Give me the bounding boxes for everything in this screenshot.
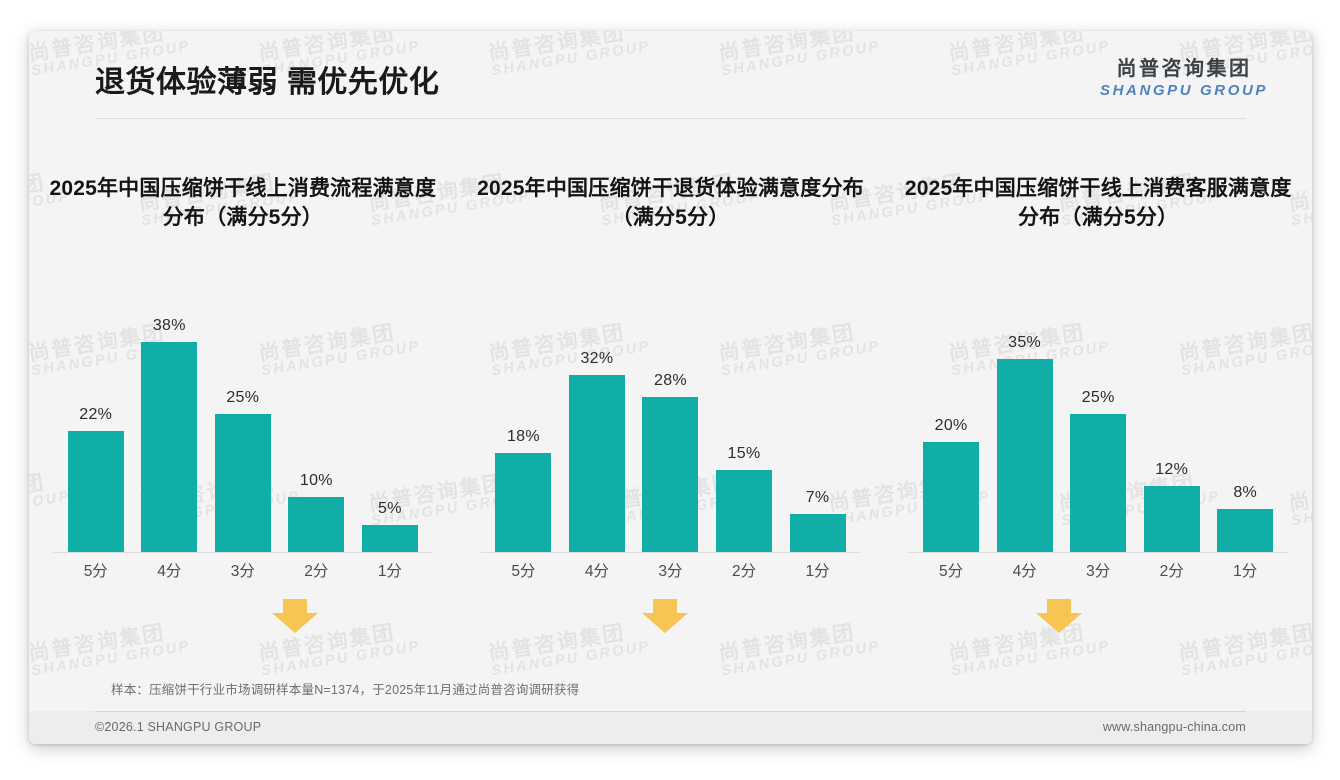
- footer-divider: [95, 711, 1246, 712]
- slide-header: 退货体验薄弱 需优先优化 尚普咨询集团 SHANGPU GROUP: [29, 31, 1312, 119]
- bar-group: 20%35%25%12%8%: [914, 303, 1282, 553]
- bar-slot[interactable]: 38%: [136, 303, 202, 553]
- x-axis-tick-label: 4分: [564, 559, 630, 581]
- x-axis-tick-label: 4分: [992, 559, 1058, 581]
- x-axis-tick-label: 1分: [1212, 559, 1278, 581]
- bar-value-label: 32%: [580, 350, 613, 368]
- x-axis-tick-label: 4分: [136, 559, 202, 581]
- plot-area: 18%32%28%15%7%: [487, 303, 855, 553]
- x-axis-tick-labels: 5分4分3分2分1分: [914, 559, 1282, 581]
- bar-slot[interactable]: 22%: [63, 303, 129, 553]
- bar-value-label: 20%: [935, 417, 968, 435]
- bar-group: 18%32%28%15%7%: [487, 303, 855, 553]
- x-axis-tick-label: 5分: [63, 559, 129, 581]
- brand-logo: 尚普咨询集团 SHANGPU GROUP: [1100, 59, 1268, 99]
- x-axis-tick-label: 3分: [1065, 559, 1131, 581]
- slide-footer: ©2026.1 SHANGPU GROUP www.shangpu-china.…: [29, 711, 1312, 744]
- chart-title: 2025年中国压缩饼干线上消费客服满意度分布（满分5分）: [884, 175, 1312, 233]
- bar[interactable]: [569, 375, 625, 553]
- bar-slot[interactable]: 20%: [918, 303, 984, 553]
- x-axis-line: [908, 552, 1288, 553]
- bar-slot[interactable]: 10%: [283, 303, 349, 553]
- arrow-down-icon: [272, 599, 318, 633]
- plot-area: 20%35%25%12%8%: [914, 303, 1282, 553]
- x-axis-tick-label: 5分: [918, 559, 984, 581]
- x-axis-tick-label: 1分: [784, 559, 850, 581]
- bar-value-label: 28%: [654, 372, 687, 390]
- bar[interactable]: [495, 453, 551, 553]
- arrow-down-icon: [1036, 599, 1082, 633]
- x-axis-tick-label: 3分: [210, 559, 276, 581]
- bar-value-label: 38%: [153, 317, 186, 335]
- bar[interactable]: [1070, 414, 1126, 553]
- bar-value-label: 5%: [378, 500, 402, 518]
- bar-slot[interactable]: 25%: [1065, 303, 1131, 553]
- bar[interactable]: [1144, 486, 1200, 553]
- x-axis-tick-label: 5分: [490, 559, 556, 581]
- x-axis-tick-labels: 5分4分3分2分1分: [487, 559, 855, 581]
- bar[interactable]: [215, 414, 271, 553]
- bar[interactable]: [1217, 509, 1273, 553]
- bar-slot[interactable]: 18%: [490, 303, 556, 553]
- x-axis-line: [53, 552, 433, 553]
- bar-value-label: 7%: [806, 489, 830, 507]
- bar[interactable]: [68, 431, 124, 553]
- bar-slot[interactable]: 5%: [357, 303, 423, 553]
- bar-slot[interactable]: 15%: [711, 303, 777, 553]
- charts-row: 2025年中国压缩饼干线上消费流程满意度分布（满分5分）22%38%25%10%…: [29, 143, 1312, 673]
- bar-value-label: 10%: [300, 472, 333, 490]
- bar-value-label: 18%: [507, 428, 540, 446]
- screenshot-root: 尚普咨询集团SHANGPU GROUP尚普咨询集团SHANGPU GROUP尚普…: [0, 0, 1340, 780]
- bar-value-label: 22%: [79, 406, 112, 424]
- bar[interactable]: [141, 342, 197, 553]
- chart-panel-2: 2025年中国压缩饼干退货体验满意度分布（满分5分）18%32%28%15%7%…: [457, 143, 885, 673]
- x-axis-tick-label: 1分: [357, 559, 423, 581]
- bar[interactable]: [716, 470, 772, 553]
- bar-slot[interactable]: 12%: [1139, 303, 1205, 553]
- bar-value-label: 8%: [1233, 484, 1257, 502]
- bar-value-label: 12%: [1155, 461, 1188, 479]
- website-url[interactable]: www.shangpu-china.com: [1103, 720, 1246, 734]
- page-title: 退货体验薄弱 需优先优化: [95, 57, 439, 101]
- bar-slot[interactable]: 35%: [992, 303, 1058, 553]
- copyright-text: ©2026.1 SHANGPU GROUP: [95, 720, 261, 734]
- sample-footnote: 样本：压缩饼干行业市场调研样本量N=1374，于2025年11月通过尚普咨询调研…: [111, 679, 579, 698]
- chart-panel-1: 2025年中国压缩饼干线上消费流程满意度分布（满分5分）22%38%25%10%…: [29, 143, 457, 673]
- logo-english-text: SHANGPU GROUP: [1100, 83, 1268, 99]
- x-axis-tick-label: 3分: [637, 559, 703, 581]
- chart-title: 2025年中国压缩饼干线上消费流程满意度分布（满分5分）: [29, 175, 457, 233]
- chart-panel-3: 2025年中国压缩饼干线上消费客服满意度分布（满分5分）20%35%25%12%…: [884, 143, 1312, 673]
- plot-area: 22%38%25%10%5%: [59, 303, 427, 553]
- x-axis-tick-label: 2分: [283, 559, 349, 581]
- bar-slot[interactable]: 32%: [564, 303, 630, 553]
- bar[interactable]: [923, 442, 979, 553]
- chart-title: 2025年中国压缩饼干退货体验满意度分布（满分5分）: [457, 175, 885, 233]
- x-axis-line: [481, 552, 861, 553]
- bar-value-label: 35%: [1008, 334, 1041, 352]
- bar-value-label: 25%: [226, 389, 259, 407]
- bar-slot[interactable]: 7%: [784, 303, 850, 553]
- slide-card: 尚普咨询集团SHANGPU GROUP尚普咨询集团SHANGPU GROUP尚普…: [29, 31, 1312, 744]
- bar[interactable]: [790, 514, 846, 553]
- header-divider: [95, 118, 1246, 119]
- x-axis-tick-label: 2分: [711, 559, 777, 581]
- bar-group: 22%38%25%10%5%: [59, 303, 427, 553]
- bar-slot[interactable]: 25%: [210, 303, 276, 553]
- bar-slot[interactable]: 28%: [637, 303, 703, 553]
- bar[interactable]: [642, 397, 698, 553]
- bar[interactable]: [997, 359, 1053, 553]
- x-axis-tick-label: 2分: [1139, 559, 1205, 581]
- bar-value-label: 15%: [728, 445, 761, 463]
- arrow-down-icon: [642, 599, 688, 633]
- bar[interactable]: [362, 525, 418, 553]
- bar-value-label: 25%: [1082, 389, 1115, 407]
- bar[interactable]: [288, 497, 344, 553]
- bar-slot[interactable]: 8%: [1212, 303, 1278, 553]
- x-axis-tick-labels: 5分4分3分2分1分: [59, 559, 427, 581]
- logo-chinese-text: 尚普咨询集团: [1100, 59, 1268, 81]
